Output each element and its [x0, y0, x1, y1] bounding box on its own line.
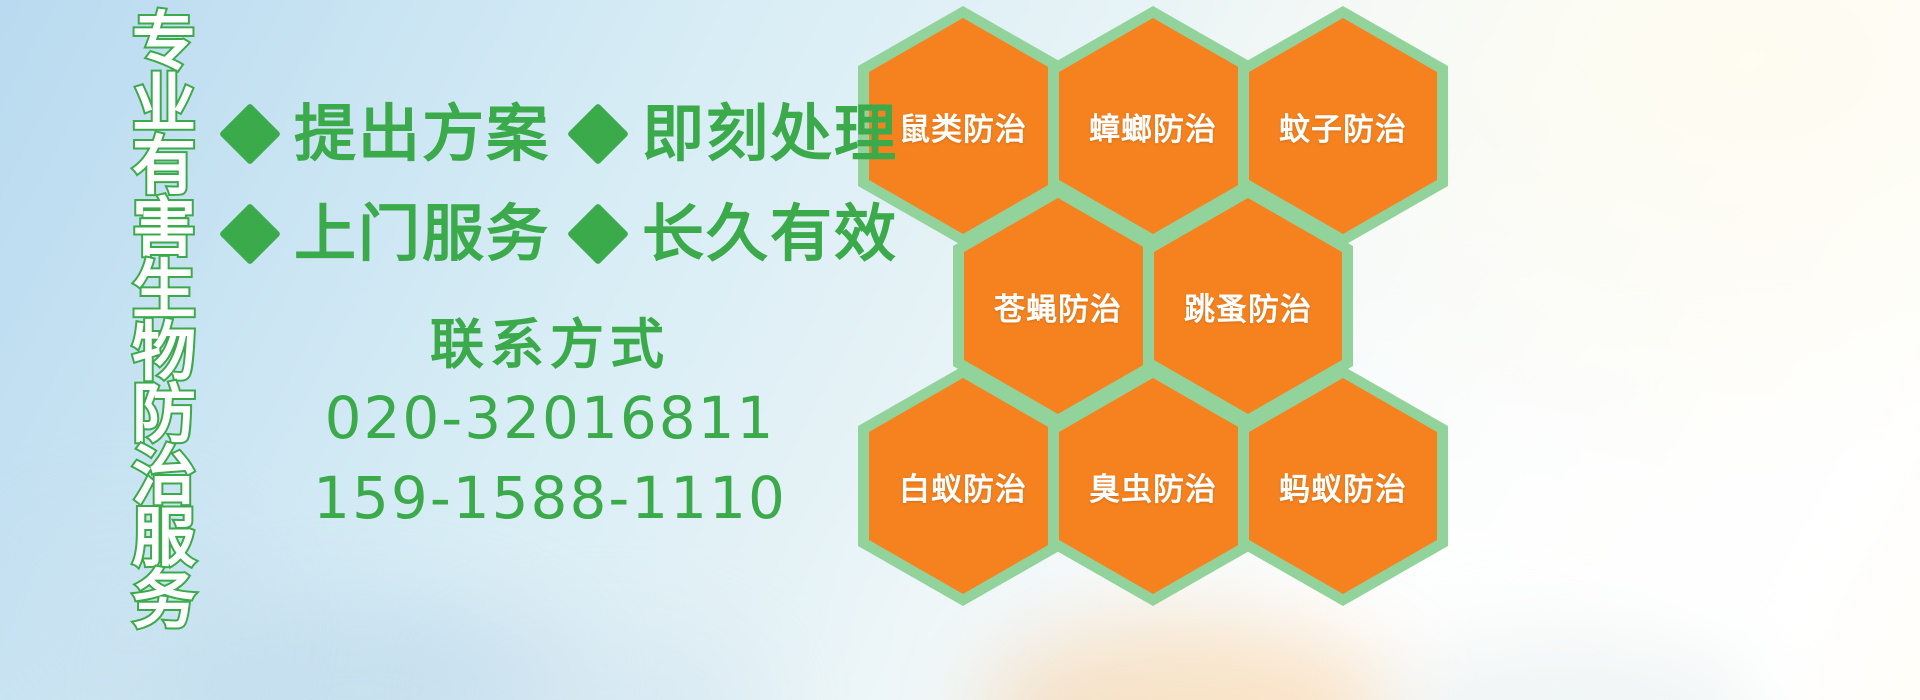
service-hex-label: 蚂蚁防治	[1279, 464, 1407, 509]
feature-bullet: 长久有效	[576, 203, 898, 265]
feature-bullet: 即刻处理	[576, 103, 898, 165]
feature-bullet-label: 长久有效	[642, 203, 898, 265]
service-hex-label: 臭虫防治	[1089, 464, 1217, 509]
background-blob	[980, 620, 1400, 700]
service-hex-label: 苍蝇防治	[994, 284, 1122, 329]
feature-bullet: 提出方案	[228, 103, 550, 165]
diamond-icon	[219, 203, 281, 265]
feature-bullet-label: 上门服务	[294, 203, 550, 265]
background-blob	[1380, 640, 1760, 700]
vertical-headline-char: 专	[132, 12, 196, 74]
background-blob	[150, 600, 570, 700]
vertical-headline-char: 服	[132, 508, 196, 570]
service-hex-label: 跳蚤防治	[1184, 284, 1312, 329]
vertical-headline-char: 防	[132, 384, 196, 446]
diamond-icon	[567, 203, 629, 265]
vertical-headline-char: 有	[132, 136, 196, 198]
feature-bullet-label: 即刻处理	[642, 103, 898, 165]
feature-bullets: 提出方案 即刻处理 上门服务 长久有效	[228, 84, 898, 284]
service-hex-label: 白蚁防治	[899, 464, 1027, 509]
service-hex-inner: 跳蚤防治	[1154, 198, 1342, 414]
contact-block: 联系方式 020-32016811 159-1588-1110	[300, 312, 800, 538]
service-hex-label: 鼠类防治	[899, 104, 1027, 149]
service-hex-inner: 苍蝇防治	[964, 198, 1152, 414]
vertical-headline-char: 治	[132, 446, 196, 508]
vertical-headline-char: 业	[132, 74, 196, 136]
service-hex-inner: 蟑螂防治	[1059, 18, 1247, 234]
background-blob	[460, 630, 760, 700]
contact-title: 联系方式	[300, 312, 800, 378]
vertical-headline-char: 生	[132, 260, 196, 322]
feature-bullet-row: 提出方案 即刻处理	[228, 84, 898, 184]
service-hex-label: 蟑螂防治	[1089, 104, 1217, 149]
service-hex-inner: 白蚁防治	[869, 378, 1057, 594]
vertical-headline-char: 物	[132, 322, 196, 384]
service-hex-inner: 蚂蚁防治	[1249, 378, 1437, 594]
service-hex-inner: 蚊子防治	[1249, 18, 1437, 234]
vertical-headline-char: 害	[132, 198, 196, 260]
feature-bullet: 上门服务	[228, 203, 550, 265]
diamond-icon	[219, 103, 281, 165]
promo-banner: 专 业 有 害 生 物 防 治 服 务 提出方案 即刻处理 上门服务	[0, 0, 1920, 700]
contact-phone-mobile[interactable]: 159-1588-1110	[300, 458, 800, 538]
service-honeycomb: 鼠类防治 蟑螂防治 蚊子防治 苍蝇防治 跳蚤防治 白蚁防治	[858, 0, 1458, 574]
vertical-headline-char: 务	[132, 570, 196, 632]
diamond-icon	[567, 103, 629, 165]
feature-bullet-row: 上门服务 长久有效	[228, 184, 898, 284]
feature-bullet-label: 提出方案	[294, 103, 550, 165]
contact-phone-landline[interactable]: 020-32016811	[300, 378, 800, 458]
vertical-headline: 专 业 有 害 生 物 防 治 服 务	[104, 12, 224, 572]
service-hex-inner: 臭虫防治	[1059, 378, 1247, 594]
service-hex-label: 蚊子防治	[1279, 104, 1407, 149]
